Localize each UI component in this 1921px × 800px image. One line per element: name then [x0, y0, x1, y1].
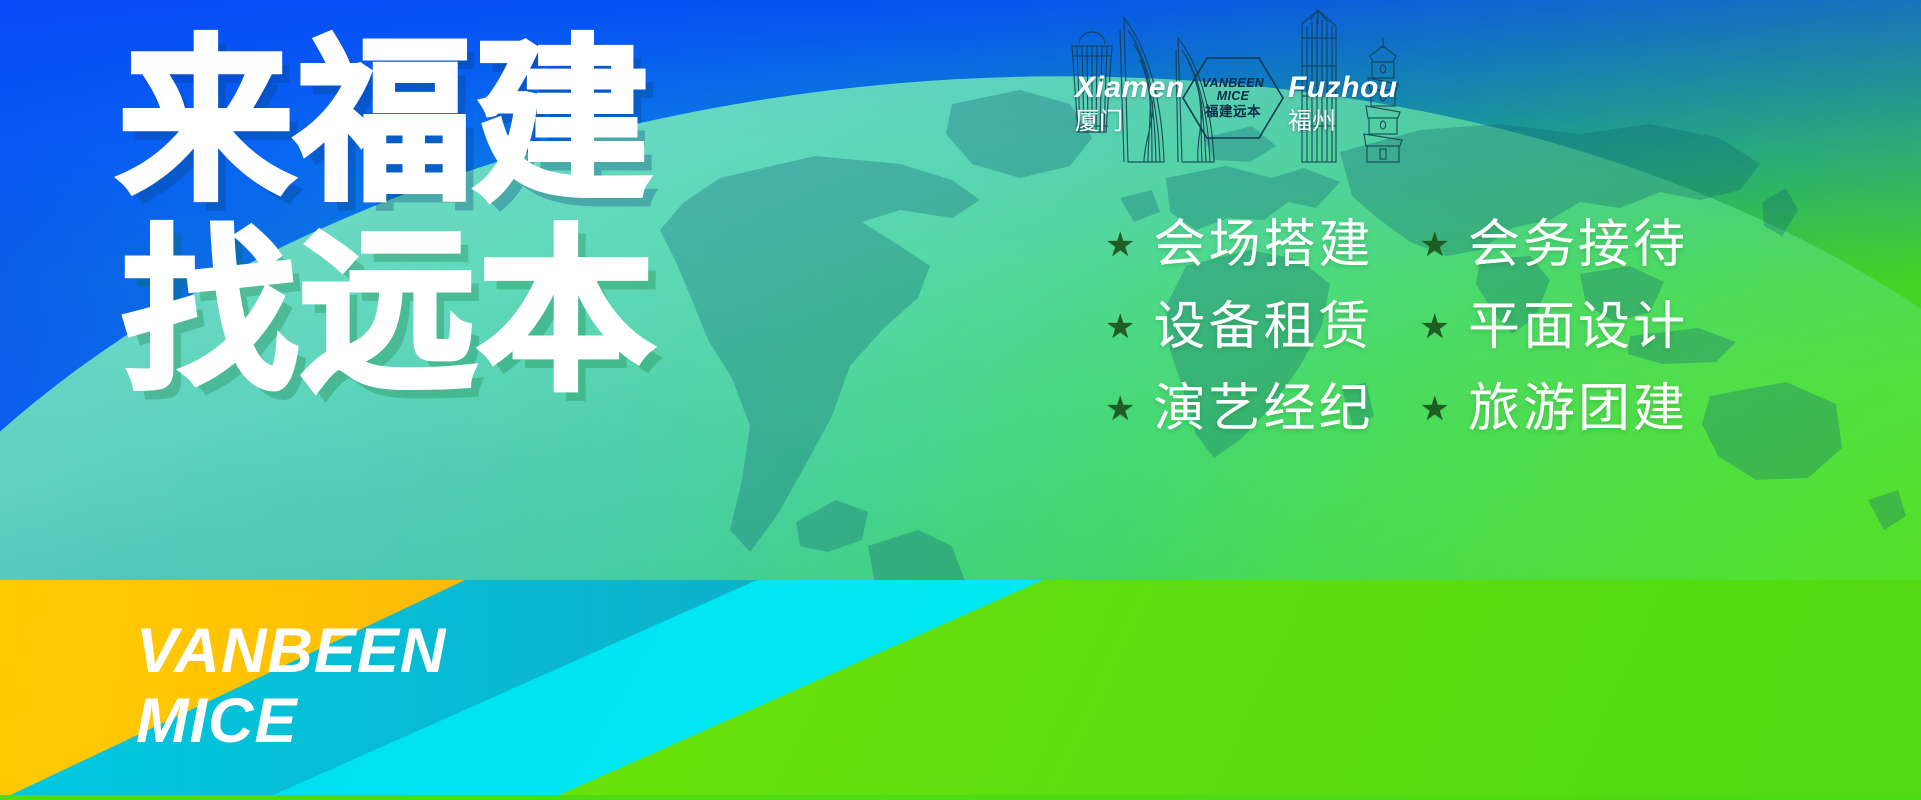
- hex-en-line-2: MICE: [1217, 90, 1249, 103]
- service-label: 设备租赁: [1153, 290, 1373, 364]
- wordmark-line-2: MICE: [136, 686, 446, 756]
- star-icon: ★: [1105, 392, 1135, 426]
- star-icon: ★: [1105, 310, 1135, 344]
- service-list: ★ 会场搭建 ★ 会务接待 ★ 设备租赁 ★ 平面设计 ★ 演艺经纪 ★ 旅游团…: [1105, 208, 1688, 446]
- service-item-2: ★ 设备租赁: [1105, 290, 1374, 364]
- city-fuzhou-en: Fuzhou: [1288, 72, 1398, 104]
- banner-stage: 来福建 找远本: [0, 0, 1921, 580]
- promo-banner: 来福建 找远本: [0, 0, 1921, 800]
- service-item-5: ★ 旅游团建: [1420, 372, 1689, 446]
- star-icon: ★: [1420, 228, 1450, 262]
- city-label-xiamen: Xiamen 厦门: [1075, 72, 1185, 136]
- service-item-3: ★ 平面设计: [1420, 290, 1689, 364]
- city-label-fuzhou: Fuzhou 福州: [1288, 72, 1398, 136]
- service-item-4: ★ 演艺经纪: [1105, 372, 1374, 446]
- star-icon: ★: [1420, 392, 1450, 426]
- wordmark-line-1: VANBEEN: [136, 616, 446, 686]
- service-label: 平面设计: [1468, 290, 1688, 364]
- hexagon-text-group: VANBEEN MICE 福建远本: [1181, 56, 1285, 140]
- city-xiamen-en: Xiamen: [1075, 72, 1185, 104]
- service-item-0: ★ 会场搭建: [1105, 208, 1374, 282]
- vanbeen-mice-wordmark: VANBEEN MICE: [136, 616, 446, 756]
- service-label: 会场搭建: [1153, 208, 1373, 282]
- headline-line-1: 来福建: [118, 28, 656, 218]
- headline: 来福建 找远本: [118, 28, 656, 408]
- city-xiamen-cn: 厦门: [1075, 106, 1185, 136]
- service-label: 会务接待: [1468, 208, 1688, 282]
- service-item-1: ★ 会务接待: [1420, 208, 1689, 282]
- hex-en-line-1: VANBEEN: [1202, 77, 1264, 90]
- hexagon-brand-mark: VANBEEN MICE 福建远本: [1181, 56, 1285, 140]
- bottom-band: VANBEEN MICE: [0, 580, 1921, 800]
- service-label: 演艺经纪: [1153, 372, 1373, 446]
- star-icon: ★: [1105, 228, 1135, 262]
- band-bottom-strip: [0, 795, 1921, 800]
- headline-line-2: 找远本: [122, 218, 656, 408]
- service-label: 旅游团建: [1468, 372, 1688, 446]
- hex-cn-name: 福建远本: [1205, 104, 1261, 120]
- city-fuzhou-cn: 福州: [1288, 106, 1398, 136]
- star-icon: ★: [1420, 310, 1450, 344]
